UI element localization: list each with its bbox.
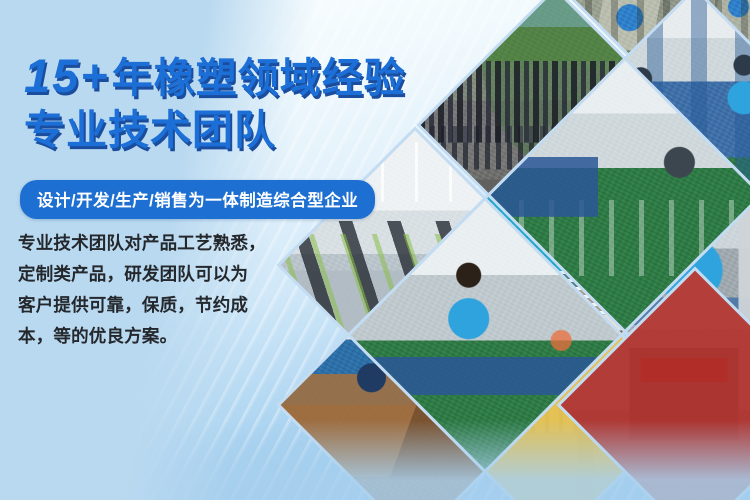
headline-years-number: 15+	[24, 49, 112, 102]
business-scope-pill: 设计/开发/生产/销售为一体制造综合型企业	[20, 180, 375, 219]
description-line-2: 定制类产品，研发团队可以为	[18, 259, 286, 290]
description-line-3: 客户提供可靠，保质，节约成	[18, 290, 286, 321]
description-paragraph: 专业技术团队对产品工艺熟悉， 定制类产品，研发团队可以为 客户提供可靠，保质，节…	[18, 228, 286, 353]
headline-line-1-text: 年橡塑领域经验	[112, 55, 406, 101]
headline-line-2: 专业技术团队	[24, 109, 454, 152]
text-block: 15+年橡塑领域经验 专业技术团队 设计/开发/生产/销售为一体制造综合型企业 …	[0, 0, 470, 500]
promo-banner: 15+年橡塑领域经验 专业技术团队 设计/开发/生产/销售为一体制造综合型企业 …	[0, 0, 750, 500]
description-line-4: 本，等的优良方案。	[18, 321, 286, 352]
description-line-1: 专业技术团队对产品工艺熟悉，	[18, 228, 286, 259]
headline: 15+年橡塑领域经验 专业技术团队	[24, 52, 454, 152]
headline-line-1: 15+年橡塑领域经验	[24, 52, 454, 101]
